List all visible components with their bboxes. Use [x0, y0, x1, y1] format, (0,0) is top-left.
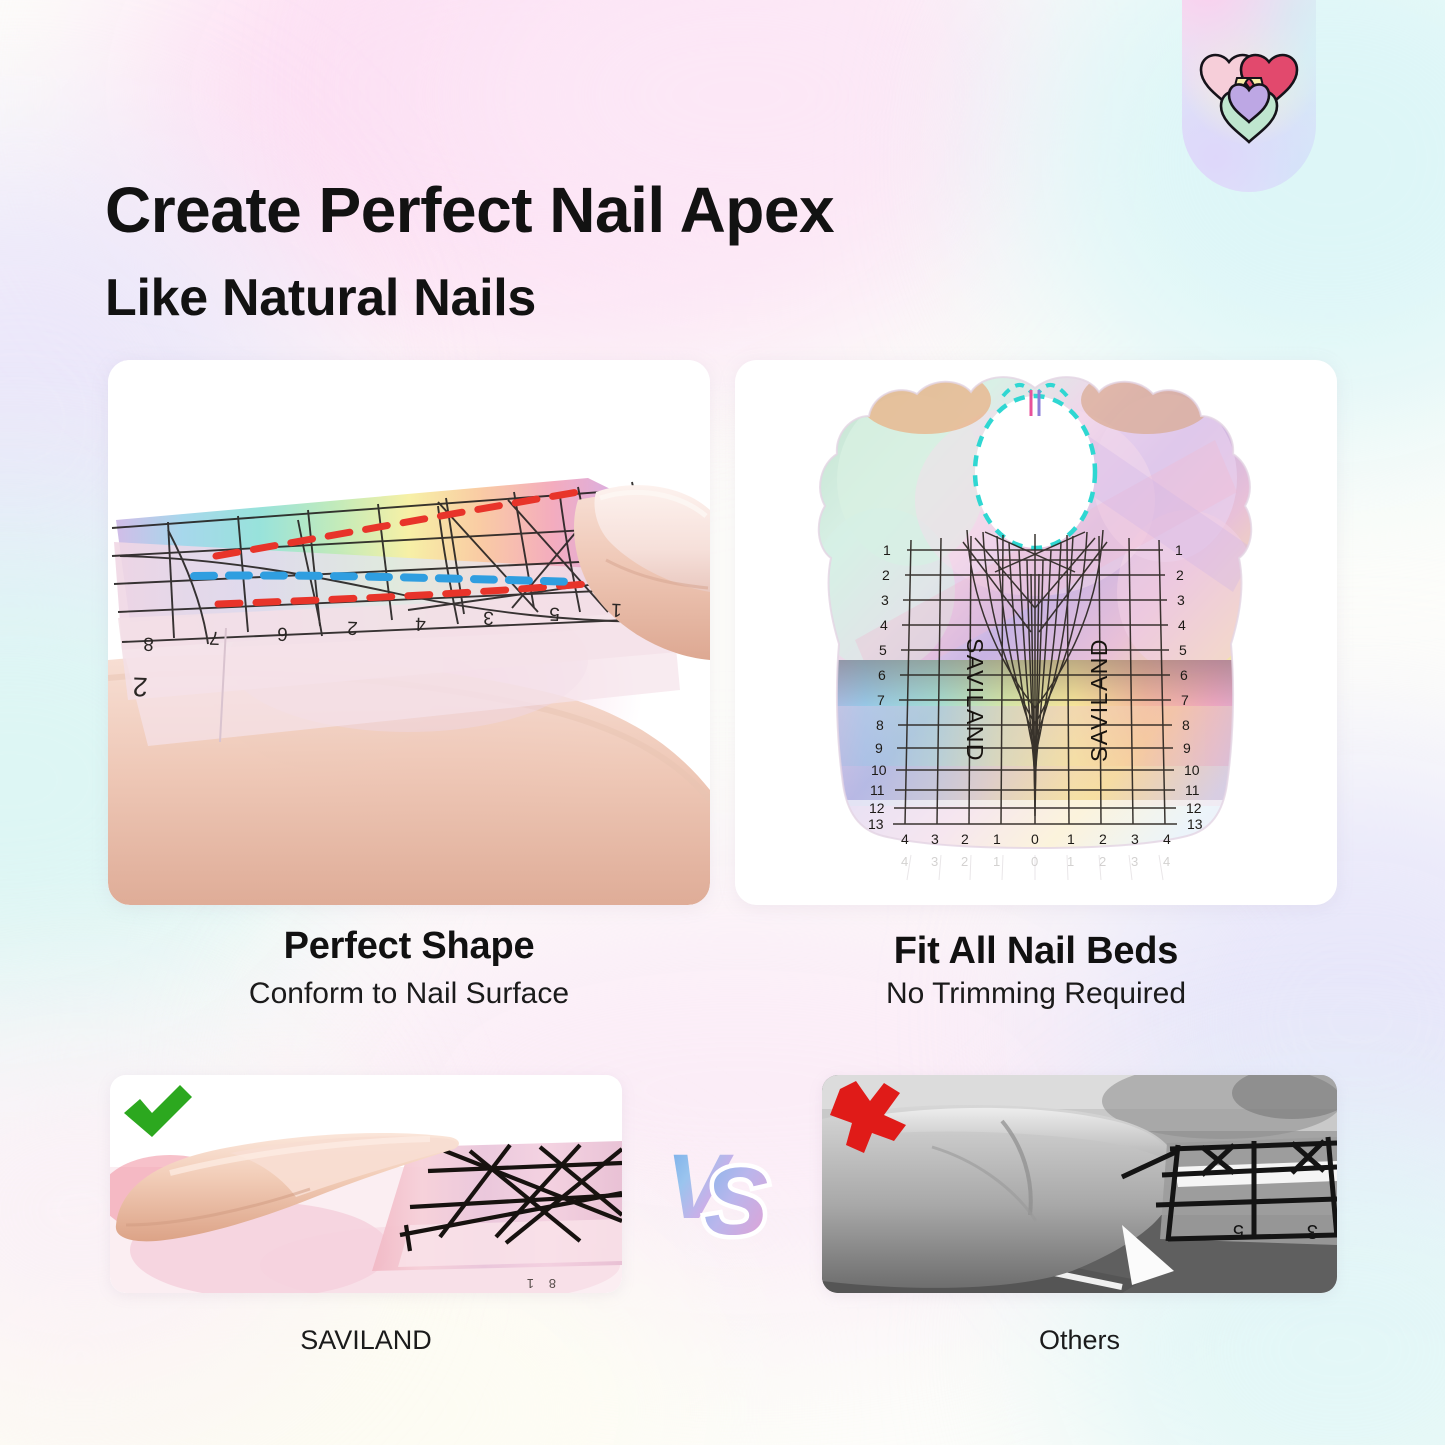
svg-text:1: 1: [1175, 542, 1183, 558]
svg-text:2: 2: [961, 831, 969, 847]
svg-text:2: 2: [961, 854, 968, 869]
feature-subtitle-fit-all-nail-beds: No Trimming Required: [735, 977, 1337, 1011]
svg-text:13: 13: [1187, 816, 1203, 832]
svg-text:3: 3: [1131, 854, 1138, 869]
heart-flower-logo-icon: [1193, 42, 1305, 146]
svg-text:4: 4: [901, 854, 908, 869]
svg-text:6: 6: [277, 623, 288, 644]
nail-form-photo: SAVILAND SAVILAND 12 34 56 78 910 1112 1…: [735, 360, 1337, 905]
brand-logo-tab: [1182, 0, 1316, 192]
perfect-shape-photo: 8 7 6 2 4 3 5 1 2: [108, 360, 710, 905]
svg-text:12: 12: [1186, 800, 1202, 816]
svg-text:1: 1: [527, 1276, 534, 1291]
svg-text:3: 3: [483, 607, 494, 628]
svg-text:10: 10: [871, 762, 887, 778]
svg-text:1: 1: [993, 831, 1001, 847]
comparison-label-saviland: SAVILAND: [110, 1325, 622, 1356]
svg-text:2: 2: [1099, 831, 1107, 847]
svg-text:0: 0: [1031, 831, 1039, 847]
comparison-card-saviland: 1 8: [110, 1075, 622, 1293]
vs-badge: V S: [660, 1136, 790, 1244]
poster-canvas: Create Perfect Nail Apex Like Natural Na…: [0, 0, 1445, 1445]
svg-text:11: 11: [1185, 782, 1200, 798]
svg-text:2: 2: [882, 567, 890, 583]
svg-text:4: 4: [880, 617, 888, 633]
svg-text:2: 2: [347, 617, 358, 638]
feature-title-perfect-shape: Perfect Shape: [108, 925, 710, 968]
svg-text:10: 10: [1184, 762, 1200, 778]
svg-text:2: 2: [132, 671, 148, 702]
svg-text:4: 4: [414, 613, 426, 634]
svg-text:8: 8: [143, 633, 154, 654]
form-brand-left: SAVILAND: [962, 638, 988, 762]
svg-text:1: 1: [993, 854, 1000, 869]
svg-text:5: 5: [879, 642, 887, 658]
svg-text:3: 3: [881, 592, 889, 608]
svg-text:2: 2: [1176, 567, 1184, 583]
svg-text:6: 6: [1180, 667, 1188, 683]
svg-text:5: 5: [549, 603, 560, 624]
svg-text:8: 8: [876, 717, 884, 733]
feature-subtitle-perfect-shape: Conform to Nail Surface: [108, 977, 710, 1011]
svg-text:4: 4: [1163, 831, 1171, 847]
svg-text:12: 12: [869, 800, 885, 816]
feature-title-fit-all-nail-beds: Fit All Nail Beds: [735, 930, 1337, 973]
svg-text:5: 5: [1233, 1220, 1244, 1242]
comparison-card-others: 5 3: [822, 1075, 1337, 1293]
svg-text:9: 9: [875, 740, 883, 756]
saviland-comparison-photo: 1 8: [110, 1075, 622, 1293]
svg-text:4: 4: [1163, 854, 1170, 869]
svg-text:8: 8: [549, 1276, 556, 1291]
svg-text:9: 9: [1183, 740, 1191, 756]
others-comparison-photo: 5 3: [822, 1075, 1337, 1293]
svg-text:1: 1: [883, 542, 891, 558]
form-brand-right: SAVILAND: [1086, 638, 1112, 762]
svg-text:3: 3: [931, 831, 939, 847]
headline-primary: Create Perfect Nail Apex: [105, 178, 1105, 242]
svg-text:4: 4: [901, 831, 909, 847]
svg-text:7: 7: [877, 692, 885, 708]
svg-text:13: 13: [868, 816, 884, 832]
headline-secondary: Like Natural Nails: [105, 272, 1005, 324]
feature-card-fit-all-nail-beds: SAVILAND SAVILAND 12 34 56 78 910 1112 1…: [735, 360, 1337, 905]
svg-text:4: 4: [1178, 617, 1186, 633]
svg-text:3: 3: [1177, 592, 1185, 608]
svg-text:3: 3: [1307, 1220, 1318, 1242]
svg-text:8: 8: [1182, 717, 1190, 733]
svg-text:11: 11: [870, 782, 885, 798]
svg-text:7: 7: [1181, 692, 1189, 708]
feature-card-perfect-shape: 8 7 6 2 4 3 5 1 2: [108, 360, 710, 905]
comparison-label-others: Others: [822, 1325, 1337, 1356]
svg-text:3: 3: [931, 854, 938, 869]
svg-text:1: 1: [611, 599, 622, 620]
svg-text:5: 5: [1179, 642, 1187, 658]
svg-text:1: 1: [1067, 854, 1074, 869]
svg-text:6: 6: [878, 667, 886, 683]
svg-text:7: 7: [209, 627, 220, 648]
vs-letter-s: S: [704, 1148, 768, 1244]
svg-text:3: 3: [1131, 831, 1139, 847]
svg-text:1: 1: [1067, 831, 1075, 847]
